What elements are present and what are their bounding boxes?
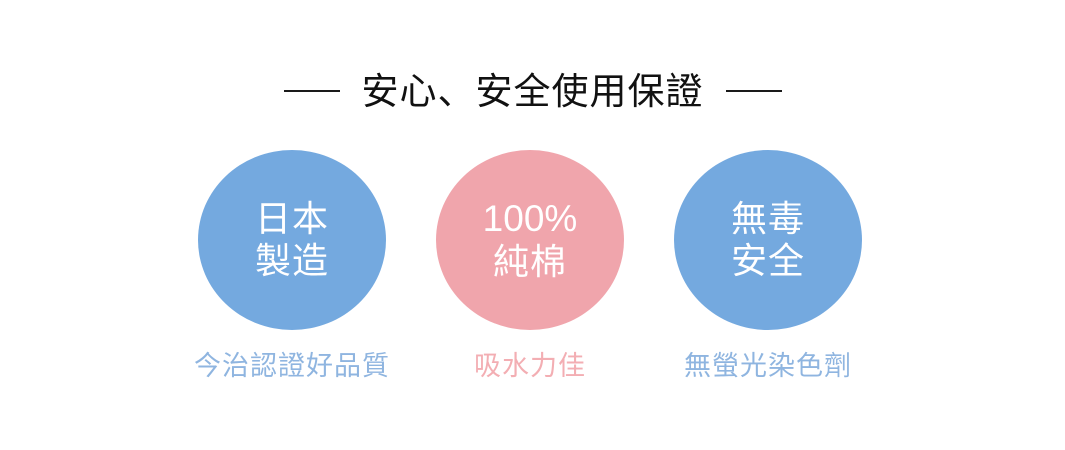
feature-circle-pure-cotton: 100% 純棉	[436, 150, 624, 330]
promo-banner: 安心、安全使用保證 日本 製造 100% 純棉 無毒 安全 今治認證好品質 吸水…	[0, 0, 1065, 450]
feature-circle-line-1: 無毒	[731, 198, 805, 240]
feature-circle-line-1: 100%	[483, 197, 578, 241]
feature-circle-non-toxic: 無毒 安全	[674, 150, 862, 330]
feature-circles: 日本 製造 100% 純棉 無毒 安全	[0, 150, 1065, 330]
feature-captions: 今治認證好品質 吸水力佳 無螢光染色劑	[0, 344, 1065, 388]
feature-pure-cotton: 100% 純棉	[436, 150, 624, 330]
heading-row: 安心、安全使用保證	[0, 62, 1065, 120]
feature-caption-non-toxic: 無螢光染色劑	[643, 344, 893, 388]
feature-circle-line-1: 日本	[255, 198, 329, 240]
feature-caption-pure-cotton: 吸水力佳	[405, 344, 655, 388]
feature-non-toxic: 無毒 安全	[674, 150, 862, 330]
feature-caption-japan-made: 今治認證好品質	[167, 344, 417, 388]
feature-circle-japan-made: 日本 製造	[198, 150, 386, 330]
heading-rule-right-icon	[726, 90, 782, 92]
heading-rule-left-icon	[284, 90, 340, 92]
page-title: 安心、安全使用保證	[362, 73, 704, 110]
feature-circle-line-2: 製造	[255, 240, 329, 282]
feature-circle-line-2: 安全	[731, 240, 805, 282]
feature-circle-line-2: 純棉	[493, 241, 567, 283]
feature-japan-made: 日本 製造	[198, 150, 386, 330]
